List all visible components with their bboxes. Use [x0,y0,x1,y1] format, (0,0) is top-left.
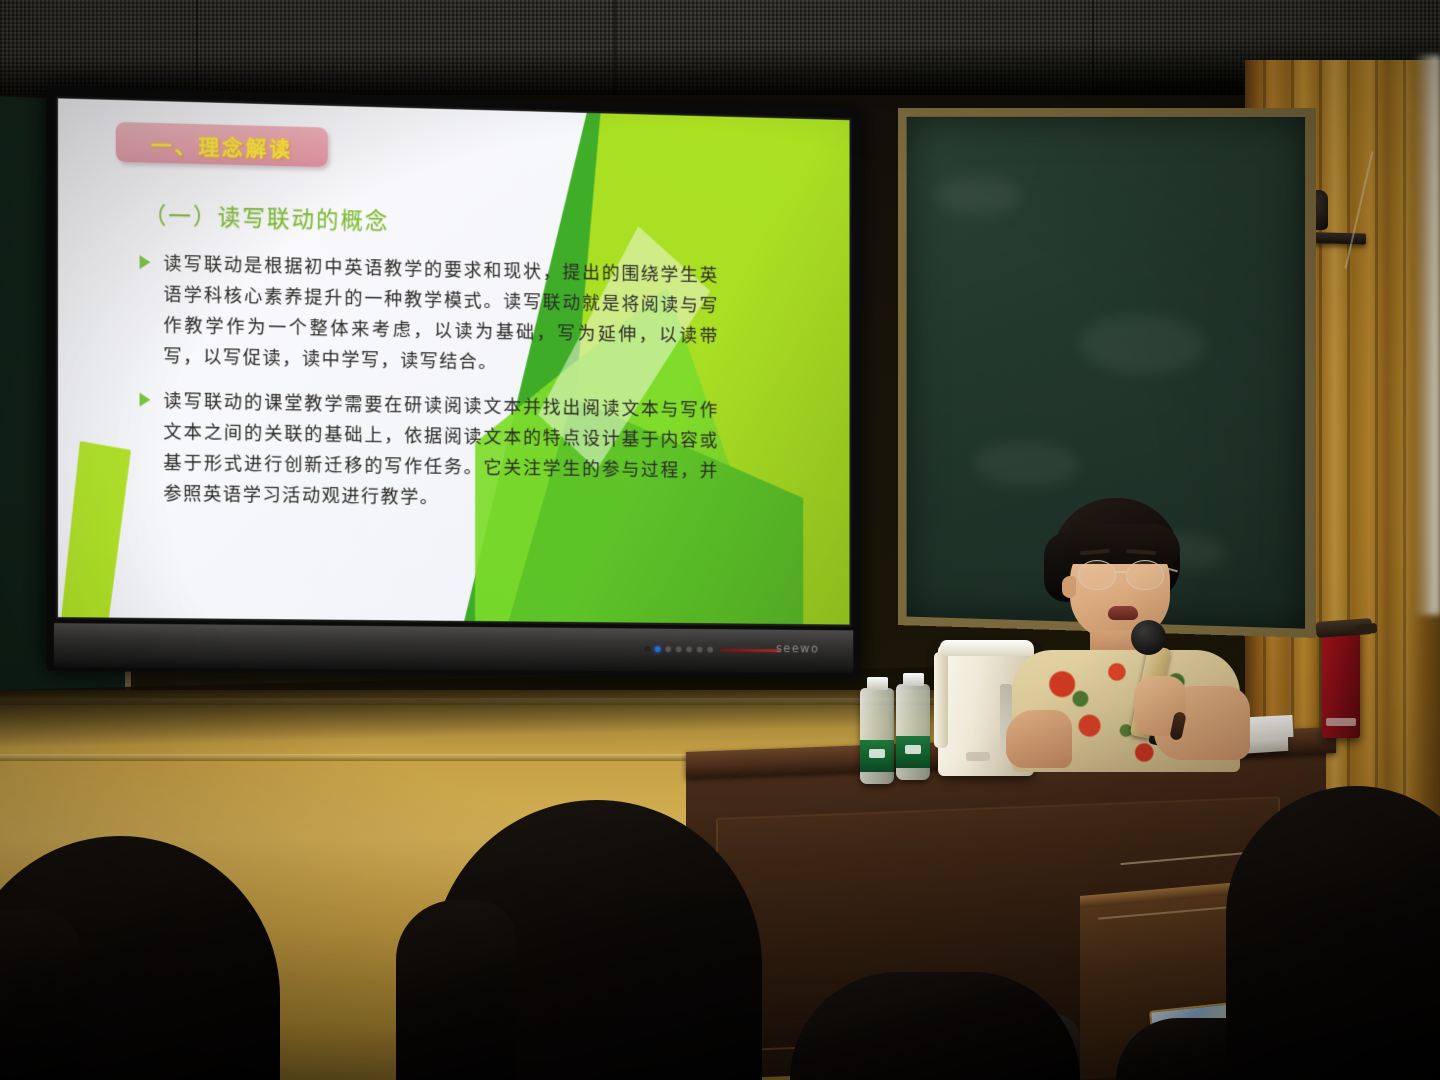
slide-subtitle: （一）读写联动的概念 [144,196,390,236]
water-bottle[interactable] [860,688,894,784]
panel-indicator-leds[interactable] [644,646,713,652]
list-item: 读写联动是根据初中英语教学的要求和现状，提出的围绕学生英语学科核心素养提升的一种… [136,248,719,382]
audience-head [0,910,80,1080]
list-item: 读写联动的课堂教学需要在研读阅读文本并找出阅读文本与写作文本之间的关联的基础上，… [136,386,719,517]
panel-screen-bezel: 一、理念解读 （一）读写联动的概念 读写联动是根据初中英语教学的要求和现状，提出… [56,96,851,626]
power-led-icon [655,646,661,652]
presenter [1004,498,1254,768]
slide-title-banner: 一、理念解读 [116,122,328,167]
bottle-label [860,740,894,772]
presentation-slide: 一、理念解读 （一）读写联动的概念 读写联动是根据初中英语教学的要求和现状，提出… [58,98,850,624]
slide-bullet-list: 读写联动是根据初中英语教学的要求和现状，提出的围绕学生英语学科核心素养提升的一种… [136,248,719,531]
window-daylight [1414,55,1440,615]
bullet-text: 读写联动是根据初中英语教学的要求和现状，提出的围绕学生英语学科核心素养提升的一种… [163,249,718,383]
water-bottle[interactable] [896,684,930,780]
bottle-cap [903,673,924,686]
presenter-ear [1062,576,1076,598]
audience-head [396,900,516,1080]
bottle-label [896,736,930,768]
kettle-power-button[interactable] [966,752,990,761]
classroom-lecture-scene: 一、理念解读 （一）读写联动的概念 读写联动是根据初中英语教学的要求和现状，提出… [0,0,1440,1080]
thermos-label [1326,718,1356,726]
triangle-bullet-icon [140,393,151,407]
panel-ir-strip [721,649,780,652]
audience-head [1226,786,1440,1080]
interactive-flat-panel[interactable]: 一、理念解读 （一）读写联动的概念 读写联动是根据初中英语教学的要求和现状，提出… [46,86,861,677]
eyeglasses-icon [1078,560,1170,588]
bullet-text: 读写联动的课堂教学需要在研读阅读文本并找出阅读文本与写作文本之间的关联的基础上，… [163,386,718,517]
slide-title-text: 一、理念解读 [116,129,328,164]
kettle-handle[interactable] [934,652,948,748]
bottle-cap [867,677,888,690]
panel-brand-logo: seewo [776,641,819,655]
presenter-fringe [1064,524,1180,564]
presenter-left-arm [1006,710,1072,768]
panel-bottom-bezel: seewo [54,623,853,673]
microphone-icon[interactable] [1131,620,1166,655]
triangle-bullet-icon [140,255,151,269]
presenter-mouth [1108,606,1138,620]
